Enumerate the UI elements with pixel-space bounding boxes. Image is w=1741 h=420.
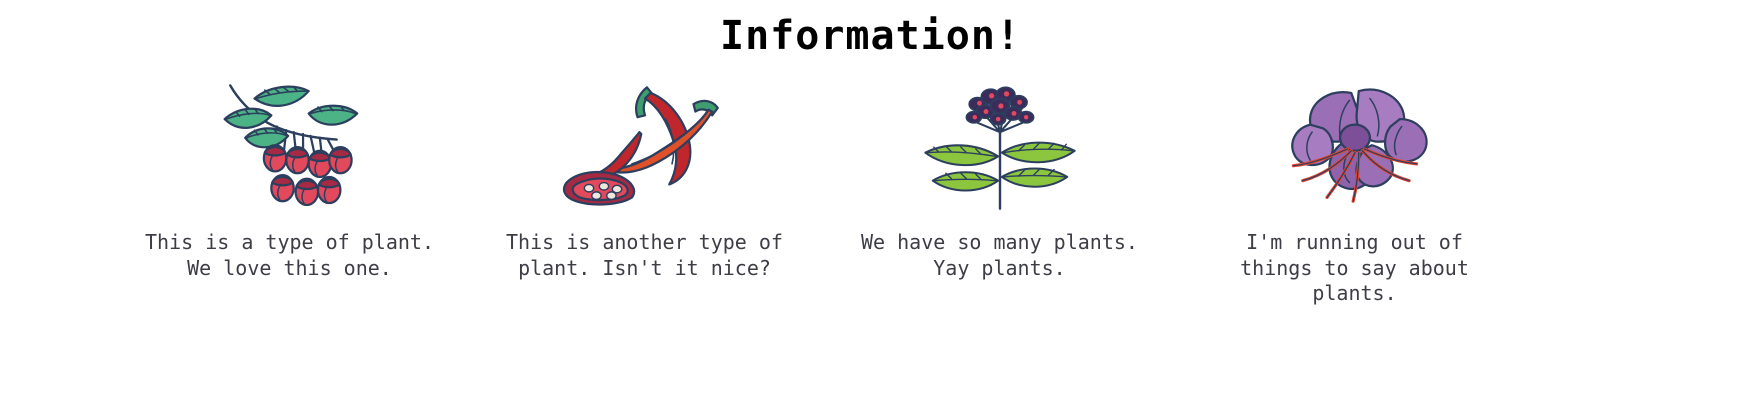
plant-card: This is another type of plant. Isn't it …	[467, 78, 822, 281]
chili-pepper-illustration	[545, 78, 745, 218]
purple-flower-illustration	[1255, 78, 1455, 218]
plant-caption: I'm running out of things to say about p…	[1205, 230, 1505, 307]
plant-card: This is a type of plant. We love this on…	[112, 78, 467, 281]
plant-caption: This is another type of plant. Isn't it …	[495, 230, 795, 281]
flowering-branch-illustration	[900, 78, 1100, 218]
plant-caption: We have so many plants. Yay plants.	[850, 230, 1150, 281]
plant-card: I'm running out of things to say about p…	[1177, 78, 1532, 307]
berry-branch-illustration	[190, 78, 390, 218]
page-root: Information!	[0, 0, 1741, 420]
plant-cards-row: This is a type of plant. We love this on…	[0, 60, 1741, 307]
plant-caption: This is a type of plant. We love this on…	[140, 230, 440, 281]
page-title: Information!	[0, 0, 1741, 60]
plant-card: We have so many plants. Yay plants.	[822, 78, 1177, 281]
